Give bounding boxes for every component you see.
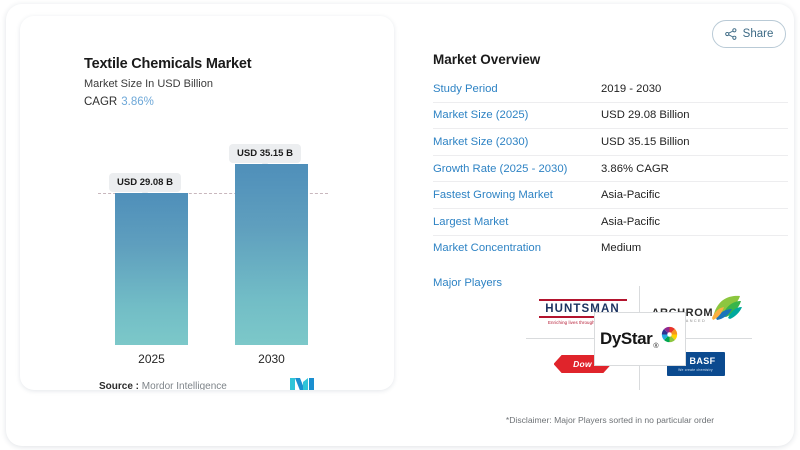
share-button-label: Share [743, 28, 774, 40]
cagr-value: 3.86% [121, 96, 154, 108]
table-row: Study Period 2019 - 2030 [433, 76, 788, 103]
chart-cagr: CAGR3.86% [84, 96, 154, 108]
x-tick-2030: 2030 [235, 352, 308, 366]
archroma-fan-icon [712, 294, 742, 320]
row-key: Largest Market [433, 216, 601, 228]
chart-panel: Textile Chemicals Market Market Size In … [20, 16, 394, 390]
basf-wordmark: BASF [689, 356, 715, 366]
source-label: Source : [99, 381, 139, 390]
market-overview-table: Study Period 2019 - 2030 Market Size (20… [433, 76, 788, 261]
dystar-color-wheel-icon [661, 326, 678, 343]
row-key: Fastest Growing Market [433, 189, 601, 201]
cagr-label: CAGR [84, 96, 117, 108]
report-card: Textile Chemicals Market Market Size In … [6, 4, 794, 446]
row-value: Asia-Pacific [601, 216, 660, 228]
bar-2030[interactable] [235, 164, 308, 345]
row-value: Medium [601, 242, 641, 254]
bar-2025[interactable] [115, 193, 188, 345]
market-overview-title: Market Overview [433, 52, 540, 67]
row-key: Study Period [433, 83, 601, 95]
player-logo-dystar: DyStar ® [594, 312, 686, 366]
table-row: Market Concentration Medium [433, 236, 788, 262]
chart-subtitle: Market Size In USD Billion [84, 78, 213, 90]
bar-label-2030: USD 35.15 B [229, 144, 301, 163]
source-value: Mordor Intelligence [142, 381, 227, 390]
table-row: Market Size (2030) USD 35.15 Billion [433, 129, 788, 156]
major-players-logo-grid: HUNTSMAN Enriching lives through innovat… [526, 286, 752, 390]
row-value: 3.86% CAGR [601, 163, 669, 175]
share-button[interactable]: Share [712, 20, 786, 48]
major-players-label: Major Players [433, 277, 502, 289]
mordor-intelligence-logo-icon [290, 377, 316, 390]
dystar-wordmark: DyStar [600, 329, 652, 349]
basf-tagline: We create chemistry [678, 368, 713, 372]
row-key: Growth Rate (2025 - 2030) [433, 163, 601, 175]
table-row: Growth Rate (2025 - 2030) 3.86% CAGR [433, 156, 788, 183]
x-tick-2025: 2025 [115, 352, 188, 366]
chart-title: Textile Chemicals Market [84, 56, 251, 72]
row-key: Market Size (2030) [433, 136, 601, 148]
disclaimer-text: *Disclaimer: Major Players sorted in no … [426, 415, 794, 425]
row-key: Market Size (2025) [433, 109, 601, 121]
table-row: Market Size (2025) USD 29.08 Billion [433, 103, 788, 130]
bar-label-2025: USD 29.08 B [109, 173, 181, 192]
table-row: Fastest Growing Market Asia-Pacific [433, 182, 788, 209]
share-nodes-icon [725, 28, 737, 40]
row-value: 2019 - 2030 [601, 83, 661, 95]
row-value: USD 29.08 Billion [601, 109, 690, 121]
row-value: Asia-Pacific [601, 189, 660, 201]
row-key: Market Concentration [433, 242, 601, 254]
source-line: Source : Mordor Intelligence [99, 381, 227, 390]
dystar-registered-mark: ® [653, 343, 658, 352]
row-value: USD 35.15 Billion [601, 136, 690, 148]
table-row: Largest Market Asia-Pacific [433, 209, 788, 236]
market-overview-panel: Share Market Overview Study Period 2019 … [426, 4, 794, 446]
